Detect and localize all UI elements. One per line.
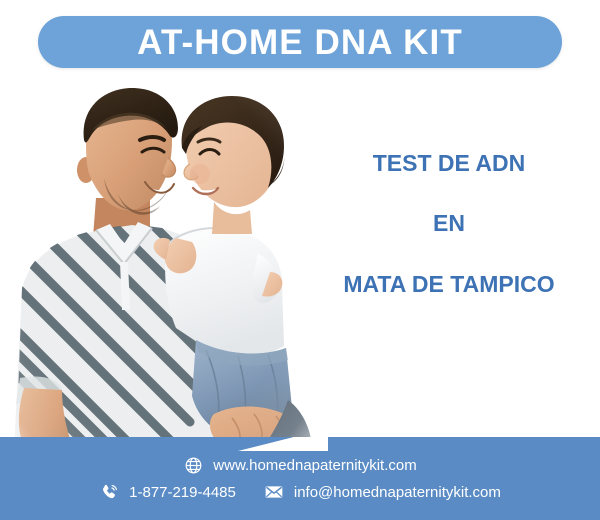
envelope-icon — [264, 482, 284, 502]
phone-icon — [99, 482, 119, 502]
heading-line-1: TEST DE ADN — [310, 150, 588, 176]
website-label: www.homednapaternitykit.com — [213, 458, 416, 473]
dna-kit-promo-banner: AT-HOME DNA KIT — [0, 0, 600, 520]
email-label: info@homednapaternitykit.com — [294, 485, 501, 500]
website-item[interactable]: www.homednapaternitykit.com — [183, 455, 416, 475]
globe-icon — [183, 455, 203, 475]
heading-line-2: EN — [310, 210, 588, 236]
email-item[interactable]: info@homednapaternitykit.com — [264, 482, 501, 502]
footer-contact-row: 1-877-219-4485 info@homednapaternitykit.… — [99, 482, 501, 502]
family-photo-image — [0, 78, 320, 450]
footer-contact-info: www.homednapaternitykit.com 1-877-219-44… — [0, 437, 600, 520]
phone-item[interactable]: 1-877-219-4485 — [99, 482, 236, 502]
family-photo — [0, 78, 320, 450]
page-title: AT-HOME DNA KIT — [137, 25, 463, 60]
phone-label: 1-877-219-4485 — [129, 485, 236, 500]
footer-website-row: www.homednapaternitykit.com — [183, 455, 416, 475]
heading-line-3: MATA DE TAMPICO — [310, 271, 588, 297]
location-heading-block: TEST DE ADN EN MATA DE TAMPICO — [310, 150, 588, 297]
header-banner-pill: AT-HOME DNA KIT — [38, 16, 562, 68]
